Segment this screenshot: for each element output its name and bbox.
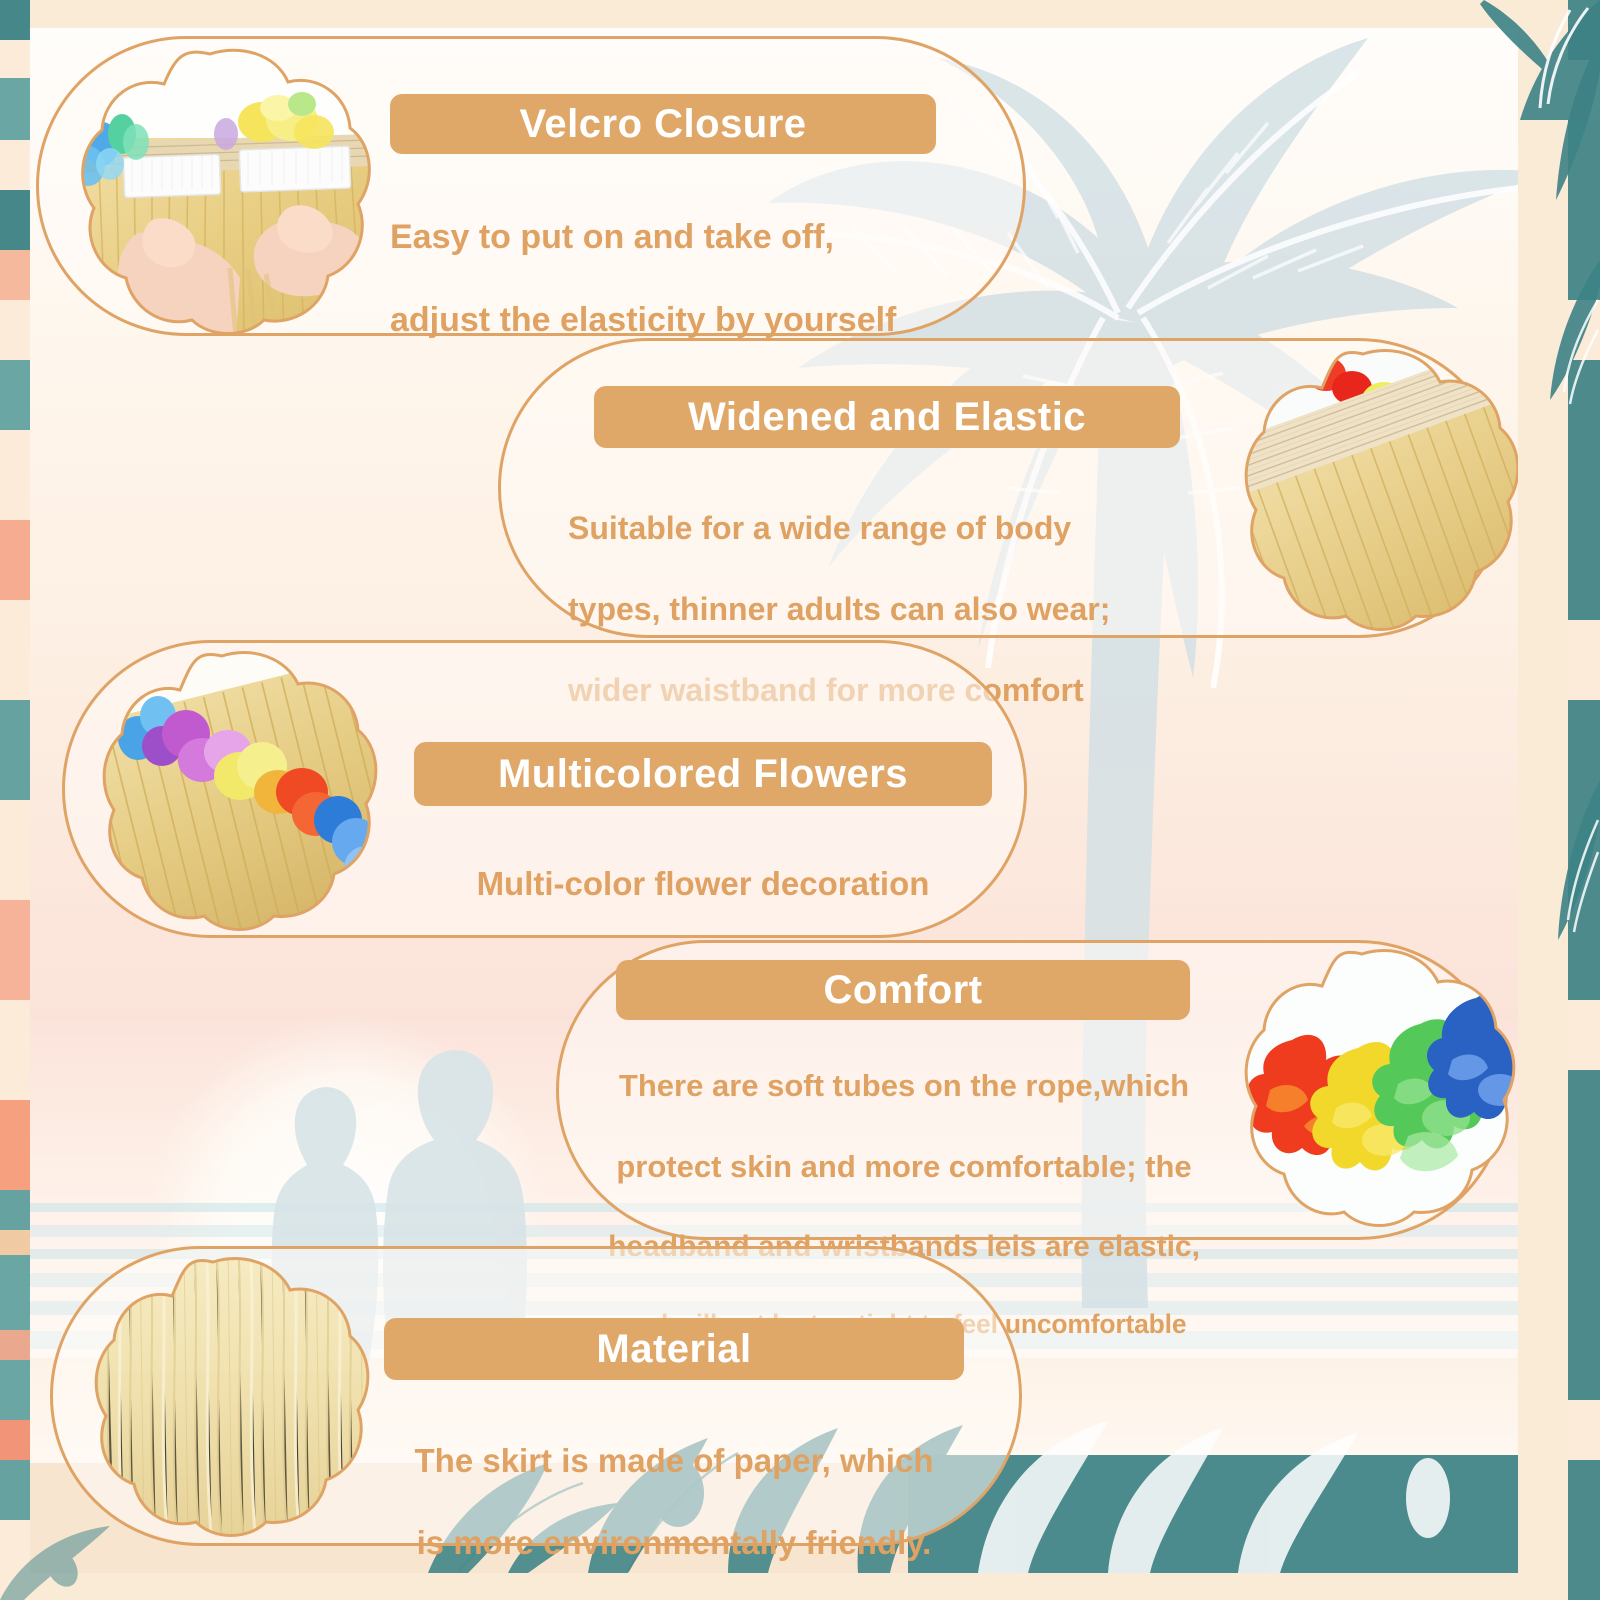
multicolored-flowers-title-badge: Multicolored Flowers [414,742,992,806]
infographic-stage: Velcro Closure Easy to put on and take o… [0,0,1600,1600]
comfort-title-badge: Comfort [616,960,1190,1020]
material-title: Material [596,1327,751,1372]
left-edge-sunset-stripes [0,0,30,1600]
widened-elastic-body-line-2: types, thinner adults can also wear; [568,589,1208,629]
widened-elastic-title: Widened and Elastic [688,395,1086,440]
multicolored-flowers-photo [62,642,382,938]
infographic-card: Velcro Closure Easy to put on and take o… [28,28,1518,1573]
comfort-body-line-1: There are soft tubes on the rope,which [594,1066,1214,1106]
comfort-title: Comfort [823,968,982,1013]
velcro-closure-title: Velcro Closure [519,102,806,147]
widened-elastic-body-line-1: Suitable for a wide range of body [568,508,1208,548]
comfort-photo [1208,940,1516,1238]
bottom-left-corner-foliage-icon [0,1450,200,1600]
velcro-closure-body-line-2: adjust the elasticity by yourself [390,300,950,341]
material-body: The skirt is made of paper, which is mor… [376,1400,972,1573]
velcro-closure-title-badge: Velcro Closure [390,94,936,154]
multicolored-flowers-body: Multi-color flower decoration [388,824,1018,945]
widened-elastic-title-badge: Widened and Elastic [594,386,1180,448]
velcro-closure-body-line-1: Easy to put on and take off, [390,217,950,258]
material-body-line-1: The skirt is made of paper, which [376,1441,972,1482]
widened-elastic-photo [1208,340,1518,640]
comfort-body-line-2: protect skin and more comfortable; the [594,1147,1214,1187]
right-edge-palm-leaf-icon [1480,0,1600,1600]
top-right-corner-foliage-icon [1270,0,1600,120]
multicolored-flowers-body-line-1: Multi-color flower decoration [388,864,1018,904]
multicolored-flowers-title: Multicolored Flowers [498,752,908,797]
material-body-line-2: is more environmentally friendly. [376,1523,972,1564]
material-title-badge: Material [384,1318,964,1380]
velcro-closure-photo [40,38,380,338]
